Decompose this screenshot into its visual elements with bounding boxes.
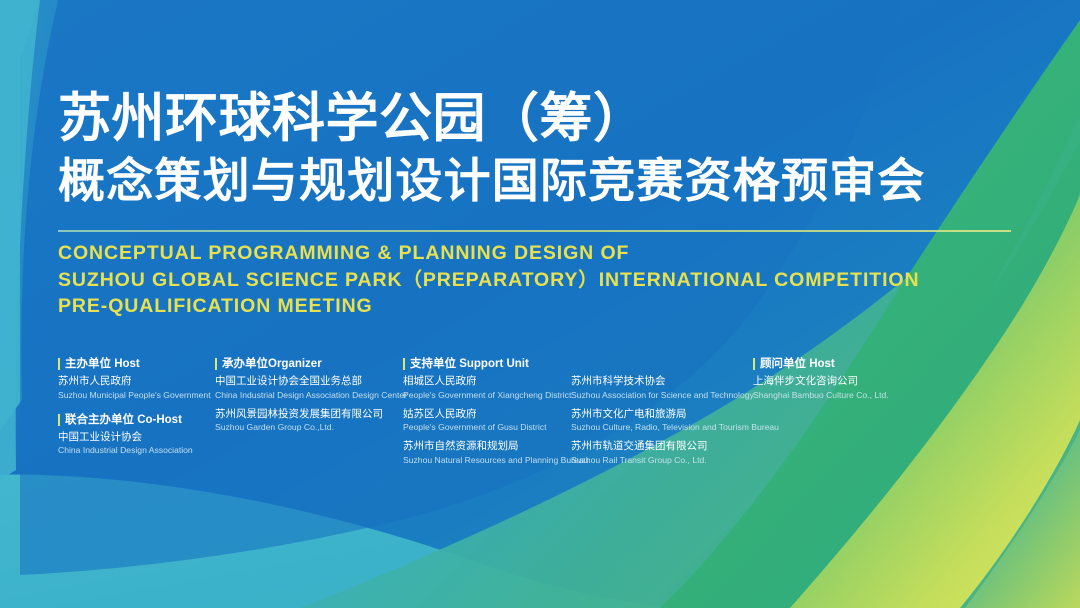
org-column-support-unit: 支持单位 Support Unit 相城区人民政府 People's Gover… xyxy=(403,357,573,478)
subtitle-line-3: PRE-QUALIFICATION MEETING xyxy=(58,293,919,320)
title-chinese-line-2: 概念策划与规划设计国际竞赛资格预审会 xyxy=(58,152,1018,210)
org-entry: 苏州市轨道交通集团有限公司 Suzhou Rail Transit Group … xyxy=(571,440,751,466)
org-name-en: People's Government of Xiangcheng Distri… xyxy=(403,389,573,401)
title-divider xyxy=(58,230,1011,232)
org-name-cn: 中国工业设计协会 xyxy=(58,431,208,445)
title-chinese-line-1: 苏州环球科学公园（筹） xyxy=(58,88,1018,150)
org-name-cn: 姑苏区人民政府 xyxy=(403,408,573,422)
org-name-en: Suzhou Culture, Radio, Television and To… xyxy=(571,421,751,433)
org-column-organizer: 承办单位Organizer 中国工业设计协会全国业务总部 China Indus… xyxy=(215,357,390,445)
org-name-en: People's Government of Gusu District xyxy=(403,421,573,433)
org-name-cn: 苏州市科学技术协会 xyxy=(571,375,751,389)
org-name-en: Suzhou Garden Group Co.,Ltd. xyxy=(215,421,390,433)
org-column-host: 主办单位 Host 苏州市人民政府 Suzhou Municipal Peopl… xyxy=(58,357,208,468)
org-name-en: Suzhou Municipal People's Government xyxy=(58,389,208,401)
org-name-cn: 上海伴步文化咨询公司 xyxy=(753,375,933,389)
org-name-en: Shanghai Bambuo Culture Co., Ltd. xyxy=(753,389,933,401)
org-header-co-host: 联合主办单位 Co-Host xyxy=(58,413,208,427)
org-entry: 苏州市自然资源和规划局 Suzhou Natural Resources and… xyxy=(403,440,573,466)
org-entry: 姑苏区人民政府 People's Government of Gusu Dist… xyxy=(403,408,573,434)
org-name-en: Suzhou Natural Resources and Planning Bu… xyxy=(403,454,573,466)
org-header-host: 主办单位 Host xyxy=(58,357,208,371)
org-header-support-unit: 支持单位 Support Unit xyxy=(403,357,573,371)
org-group-advisor: 顾问单位 Host 上海伴步文化咨询公司 Shanghai Bambuo Cul… xyxy=(753,357,933,401)
org-group-host: 主办单位 Host 苏州市人民政府 Suzhou Municipal Peopl… xyxy=(58,357,208,401)
organizations-row: 主办单位 Host 苏州市人民政府 Suzhou Municipal Peopl… xyxy=(58,357,1038,487)
org-entry: 苏州市人民政府 Suzhou Municipal People's Govern… xyxy=(58,375,208,401)
title-block: 苏州环球科学公园（筹） 概念策划与规划设计国际竞赛资格预审会 xyxy=(58,88,1018,210)
org-name-cn: 苏州风景园林投资发展集团有限公司 xyxy=(215,408,390,422)
org-entry: 上海伴步文化咨询公司 Shanghai Bambuo Culture Co., … xyxy=(753,375,933,401)
org-name-en: Suzhou Association for Science and Techn… xyxy=(571,389,751,401)
org-entry: 苏州风景园林投资发展集团有限公司 Suzhou Garden Group Co.… xyxy=(215,408,390,434)
org-name-cn: 苏州市自然资源和规划局 xyxy=(403,440,573,454)
org-entry: 中国工业设计协会 China Industrial Design Associa… xyxy=(58,431,208,457)
subtitle-line-2: SUZHOU GLOBAL SCIENCE PARK（PREPARATORY）I… xyxy=(58,267,919,294)
subtitle-english: CONCEPTUAL PROGRAMMING & PLANNING DESIGN… xyxy=(58,240,919,320)
org-header-advisor: 顾问单位 Host xyxy=(753,357,933,371)
org-group-co-host: 联合主办单位 Co-Host 中国工业设计协会 China Industrial… xyxy=(58,413,208,457)
org-name-cn: 苏州市文化广电和旅游局 xyxy=(571,408,751,422)
org-name-cn: 中国工业设计协会全国业务总部 xyxy=(215,375,390,389)
org-entry: 中国工业设计协会全国业务总部 China Industrial Design A… xyxy=(215,375,390,401)
org-group-support-continued: 苏州市科学技术协会 Suzhou Association for Science… xyxy=(571,357,751,466)
org-column-support-unit-continued: 苏州市科学技术协会 Suzhou Association for Science… xyxy=(571,357,751,478)
poster-content: 苏州环球科学公园（筹） 概念策划与规划设计国际竞赛资格预审会 CONCEPTUA… xyxy=(0,0,1080,608)
org-entry: 苏州市科学技术协会 Suzhou Association for Science… xyxy=(571,375,751,401)
org-name-cn: 相城区人民政府 xyxy=(403,375,573,389)
org-header-spacer xyxy=(571,357,751,375)
org-name-en: Suzhou Rail Transit Group Co., Ltd. xyxy=(571,454,751,466)
org-name-en: China Industrial Design Association Desi… xyxy=(215,389,390,401)
org-entry: 相城区人民政府 People's Government of Xiangchen… xyxy=(403,375,573,401)
org-group-support: 支持单位 Support Unit 相城区人民政府 People's Gover… xyxy=(403,357,573,466)
org-entry: 苏州市文化广电和旅游局 Suzhou Culture, Radio, Telev… xyxy=(571,408,751,434)
org-name-cn: 苏州市轨道交通集团有限公司 xyxy=(571,440,751,454)
poster-canvas: 苏州环球科学公园（筹） 概念策划与规划设计国际竞赛资格预审会 CONCEPTUA… xyxy=(0,0,1080,608)
org-column-advisor: 顾问单位 Host 上海伴步文化咨询公司 Shanghai Bambuo Cul… xyxy=(753,357,933,413)
org-header-organizer: 承办单位Organizer xyxy=(215,357,390,371)
subtitle-line-1: CONCEPTUAL PROGRAMMING & PLANNING DESIGN… xyxy=(58,240,919,267)
org-name-cn: 苏州市人民政府 xyxy=(58,375,208,389)
org-name-en: China Industrial Design Association xyxy=(58,444,208,456)
org-group-organizer: 承办单位Organizer 中国工业设计协会全国业务总部 China Indus… xyxy=(215,357,390,433)
